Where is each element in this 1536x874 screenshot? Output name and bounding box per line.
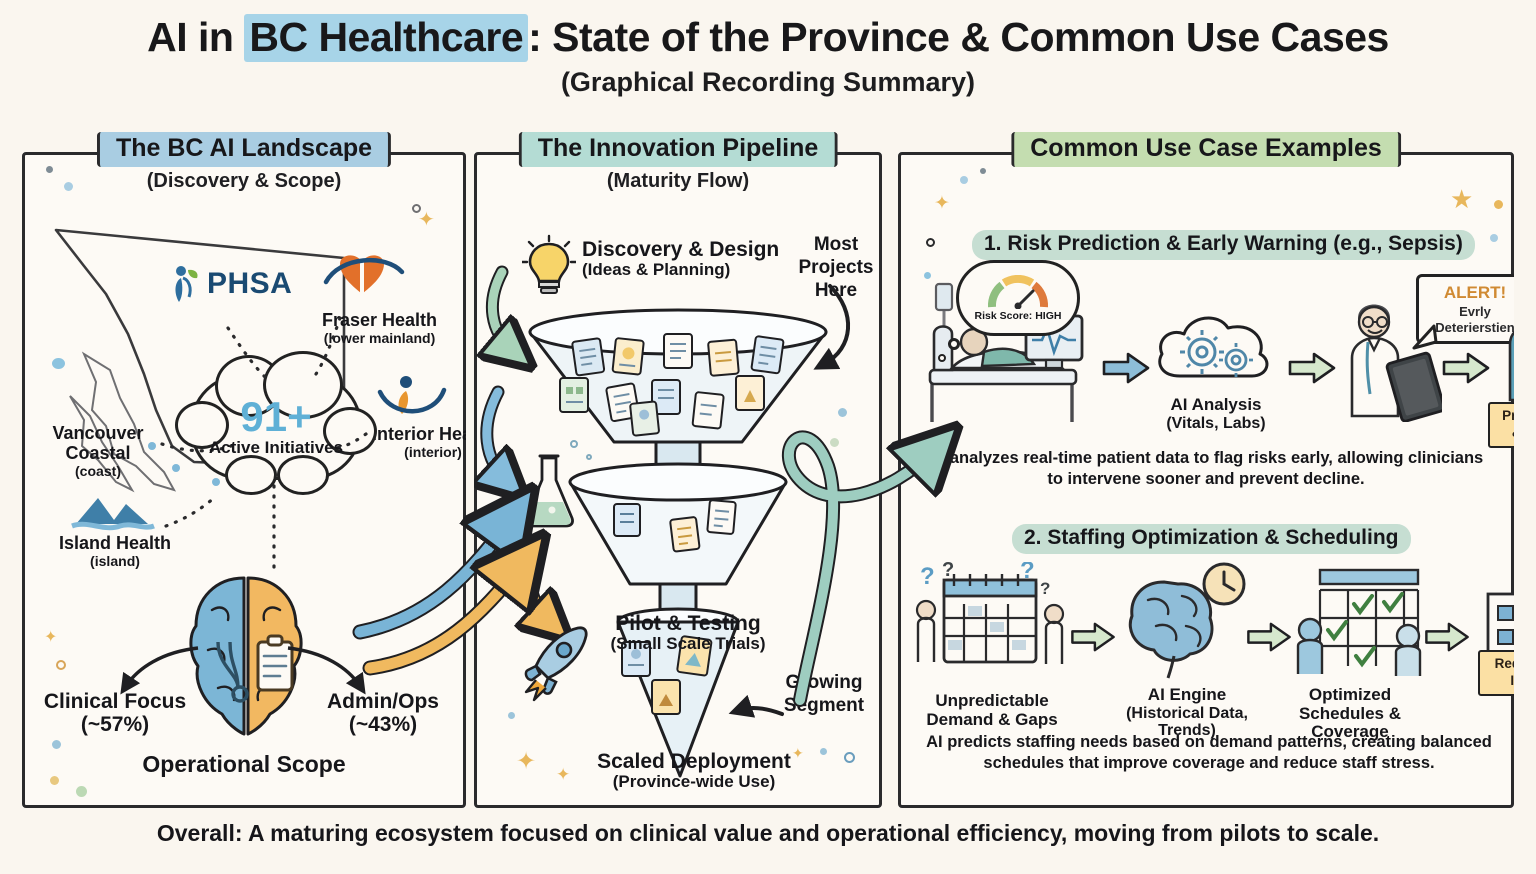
infographic-canvas: AI in BC Healthcare: State of the Provin… [0, 0, 1536, 874]
svg-text:?: ? [1040, 579, 1050, 598]
use-case-1-ribbon: Proactive Intervention & Better Outcomes [1488, 402, 1514, 448]
schedule-grid-icon [1292, 564, 1428, 684]
deco-dot [980, 168, 986, 174]
title-highlight: BC Healthcare [244, 14, 528, 62]
rocket-icon [522, 622, 594, 702]
flow-arrow-green-icon [1246, 622, 1292, 652]
use-case-2-heading: 2. Staffing Optimization & Scheduling [1012, 524, 1411, 554]
deco-dot [924, 272, 931, 279]
deco-bubble [570, 440, 578, 448]
panel-bc-ai-landscape: The BC AI Landscape (Discovery & Scope) [22, 152, 466, 808]
panel-title: The Innovation Pipeline [519, 132, 838, 167]
use-case-2-caption: AI predicts staffing needs based on dema… [924, 732, 1494, 775]
flow-arrow-green-icon [1442, 352, 1490, 384]
unpredictable-demand-label: Unpredictable Demand & Gaps [904, 692, 1080, 729]
flow-arrow-green-icon [1070, 622, 1116, 652]
deco-dot [844, 752, 855, 763]
stage-pilot-testing-label: Pilot & Testing (Small Scale Trials) [578, 612, 798, 654]
ai-analysis-label: AI Analysis (Vitals, Labs) [1146, 396, 1286, 432]
deco-dot [46, 166, 53, 173]
use-case-2-ribbon: Reduced Burnout & Improved Flow [1478, 650, 1514, 696]
risk-score-thought-bubble: Risk Score: HIGH [956, 260, 1080, 336]
deco-dot [926, 238, 935, 247]
flow-arrow-green-icon [1288, 352, 1336, 384]
panel-common-use-cases: Common Use Case Examples 1. Risk Predict… [898, 152, 1514, 808]
stage-scaled-deployment-label: Scaled Deployment (Province-wide Use) [578, 750, 810, 792]
title-line: AI in BC Healthcare: State of the Provin… [0, 14, 1536, 61]
page-title: AI in BC Healthcare: State of the Provin… [0, 14, 1536, 98]
panel-title: Common Use Case Examples [1011, 132, 1401, 167]
page-subtitle: (Graphical Recording Summary) [0, 67, 1536, 98]
flask-icon [518, 452, 580, 530]
thought-bubble-dot [938, 354, 946, 362]
deco-dot [56, 660, 66, 670]
deco-dot [830, 438, 839, 447]
panel-subtitle: (Maturity Flow) [519, 170, 838, 193]
sparkle-icon: ✦ [44, 630, 57, 646]
panel-innovation-pipeline: The Innovation Pipeline (Maturity Flow) … [474, 152, 882, 808]
deco-dot [508, 712, 515, 719]
care-team-icon [1492, 280, 1514, 420]
svg-text:?: ? [920, 563, 935, 590]
thought-bubble-dot [948, 338, 960, 350]
sparkle-icon: ✦ [792, 746, 804, 760]
admin-ops-label: Admin/Ops (~43%) [310, 690, 456, 736]
panel-title: The BC AI Landscape [97, 132, 391, 167]
panel-header-middle: The Innovation Pipeline (Maturity Flow) [519, 132, 838, 193]
sparkle-icon: ✦ [934, 194, 950, 213]
brain-clock-icon [1120, 560, 1248, 682]
deco-dot [838, 408, 847, 417]
title-prefix: AI in [147, 14, 244, 60]
flow-arrow-blue-icon [1102, 352, 1150, 384]
use-case-1-heading: 1. Risk Prediction & Early Warning (e.g.… [972, 230, 1475, 260]
growing-segment-note: Growing Segment [774, 672, 874, 718]
use-case-1-caption: AI analyzes real-time patient data to fl… [928, 448, 1484, 491]
checkmarks [1328, 594, 1402, 664]
deco-dot [52, 740, 61, 749]
panel-subtitle: (Discovery & Scope) [97, 170, 391, 193]
initiatives-label: Active Initiatives [209, 438, 343, 458]
star-icon: ★ [1450, 186, 1473, 212]
risk-gauge-icon [987, 275, 1049, 309]
deco-dot [1494, 200, 1503, 209]
deco-bubble [586, 454, 592, 460]
sparkle-icon: ✦ [418, 210, 435, 230]
deco-dot [820, 748, 827, 755]
operational-scope-caption: Operational Scope [22, 752, 466, 777]
calendar-confusion-icon: ? ? ? ? [912, 562, 1072, 692]
panel-right-body: 1. Risk Prediction & Early Warning (e.g.… [898, 152, 1514, 808]
deco-dot [76, 786, 87, 797]
footer-summary: Overall: A maturing ecosystem focused on… [0, 820, 1536, 847]
svg-text:?: ? [942, 562, 954, 581]
panel-left-body: PHSA Fraser Health (lower mainland) [22, 152, 466, 808]
deco-dot [64, 182, 73, 191]
speech-bubble-tail [1410, 324, 1440, 350]
flow-arrow-green-icon [1424, 622, 1470, 652]
panel-middle-body: Discovery & Design (Ideas & Planning) Mo… [474, 152, 882, 808]
deco-dot [1490, 234, 1498, 242]
deco-dot [50, 776, 59, 785]
cloud-gears-icon [1150, 302, 1280, 392]
initiatives-count: 91+ [240, 396, 311, 438]
deco-dot [960, 176, 968, 184]
panel-header-left: The BC AI Landscape (Discovery & Scope) [97, 132, 391, 193]
clinical-focus-label: Clinical Focus (~57%) [40, 690, 190, 736]
sparkle-icon: ✦ [556, 766, 570, 783]
panel-header-right: Common Use Case Examples [1011, 132, 1401, 167]
risk-score-text: Risk Score: HIGH [975, 310, 1062, 322]
sparkle-icon: ✦ [516, 750, 536, 774]
title-suffix: : State of the Province & Common Use Cas… [528, 14, 1389, 60]
deco-dot [52, 358, 65, 369]
